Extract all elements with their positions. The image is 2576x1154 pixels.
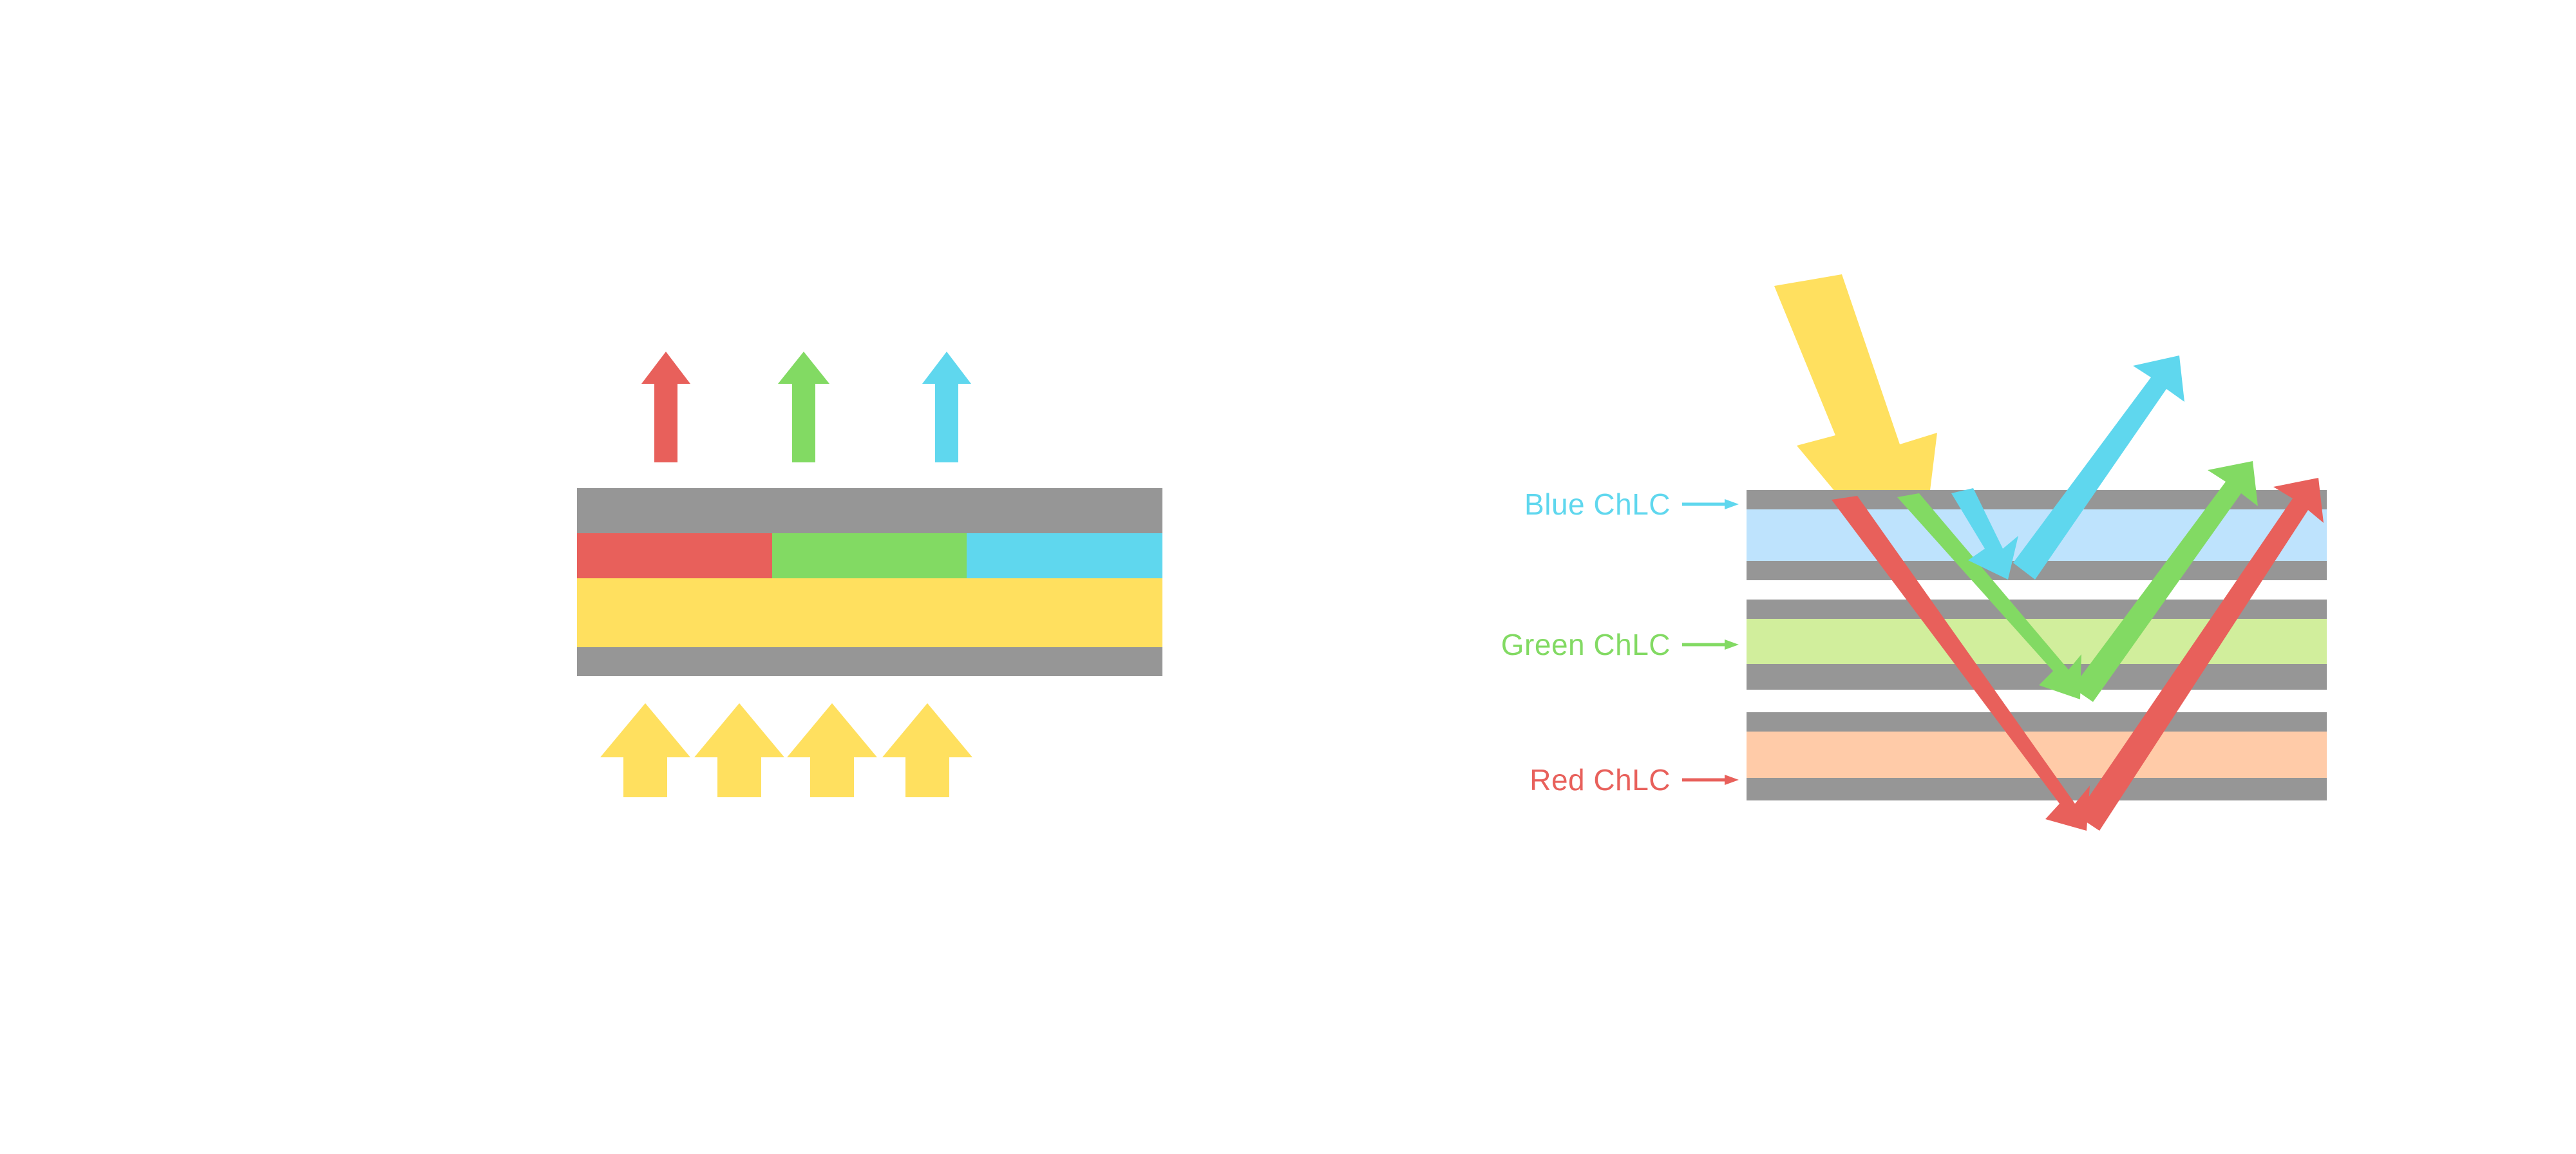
blue-chlc-label-row: Blue ChLC — [1352, 487, 1739, 522]
red-filter-segment — [577, 533, 772, 578]
gap-2 — [1747, 690, 2327, 712]
green-chlc-label: Green ChLC — [1501, 627, 1671, 662]
backlight-arrow-2 — [694, 703, 784, 797]
green-chlc-layer — [1747, 619, 2327, 664]
backlight-arrows-svg — [577, 702, 1162, 805]
blue-label-pointer-icon — [1682, 495, 1739, 514]
green-cell-bottom-electrode — [1747, 664, 2327, 690]
red-chlc-layer — [1747, 732, 2327, 778]
backlight-arrow-1 — [600, 703, 690, 797]
red-chlc-label-row: Red ChLC — [1352, 762, 1739, 797]
backlight-arrow-3 — [787, 703, 877, 797]
blue-cell-bottom-electrode — [1747, 561, 2327, 580]
red-cell-top-electrode — [1747, 712, 2327, 732]
green-chlc-label-row: Green ChLC — [1352, 627, 1739, 662]
emitted-arrows-svg — [577, 348, 1162, 464]
red-emission-arrow — [641, 352, 690, 462]
top-electrode — [577, 488, 1162, 533]
blue-filter-segment — [967, 533, 1162, 578]
emissive-rgb-stack-panel — [577, 322, 1176, 824]
blue-chlc-label: Blue ChLC — [1524, 487, 1671, 522]
green-label-pointer-icon — [1682, 635, 1739, 654]
blue-chlc-layer — [1747, 509, 2327, 561]
cyan-emission-arrow — [922, 352, 971, 462]
backlight-arrow-4 — [882, 703, 972, 797]
blue-cell-top-electrode — [1747, 490, 2327, 509]
gap-1 — [1747, 580, 2327, 600]
diagram-canvas: Blue ChLC Green ChLC Red ChLC — [0, 0, 2576, 1154]
chlc-reflective-stack-panel: Blue ChLC Green ChLC Red ChLC — [1352, 258, 2409, 876]
bottom-electrode — [577, 647, 1162, 676]
green-emission-arrow — [778, 352, 829, 462]
red-label-pointer-icon — [1682, 770, 1739, 790]
rgb-color-filter — [577, 533, 1162, 578]
green-filter-segment — [772, 533, 967, 578]
left-layer-stack — [577, 488, 1162, 676]
red-chlc-label: Red ChLC — [1529, 762, 1671, 797]
emitted-arrows-group — [577, 348, 1162, 464]
green-cell-top-electrode — [1747, 600, 2327, 619]
right-layer-stack — [1747, 490, 2327, 800]
backlight-arrows-group — [577, 702, 1162, 805]
red-cell-bottom-electrode — [1747, 778, 2327, 800]
yellow-backlight-layer — [577, 578, 1162, 647]
